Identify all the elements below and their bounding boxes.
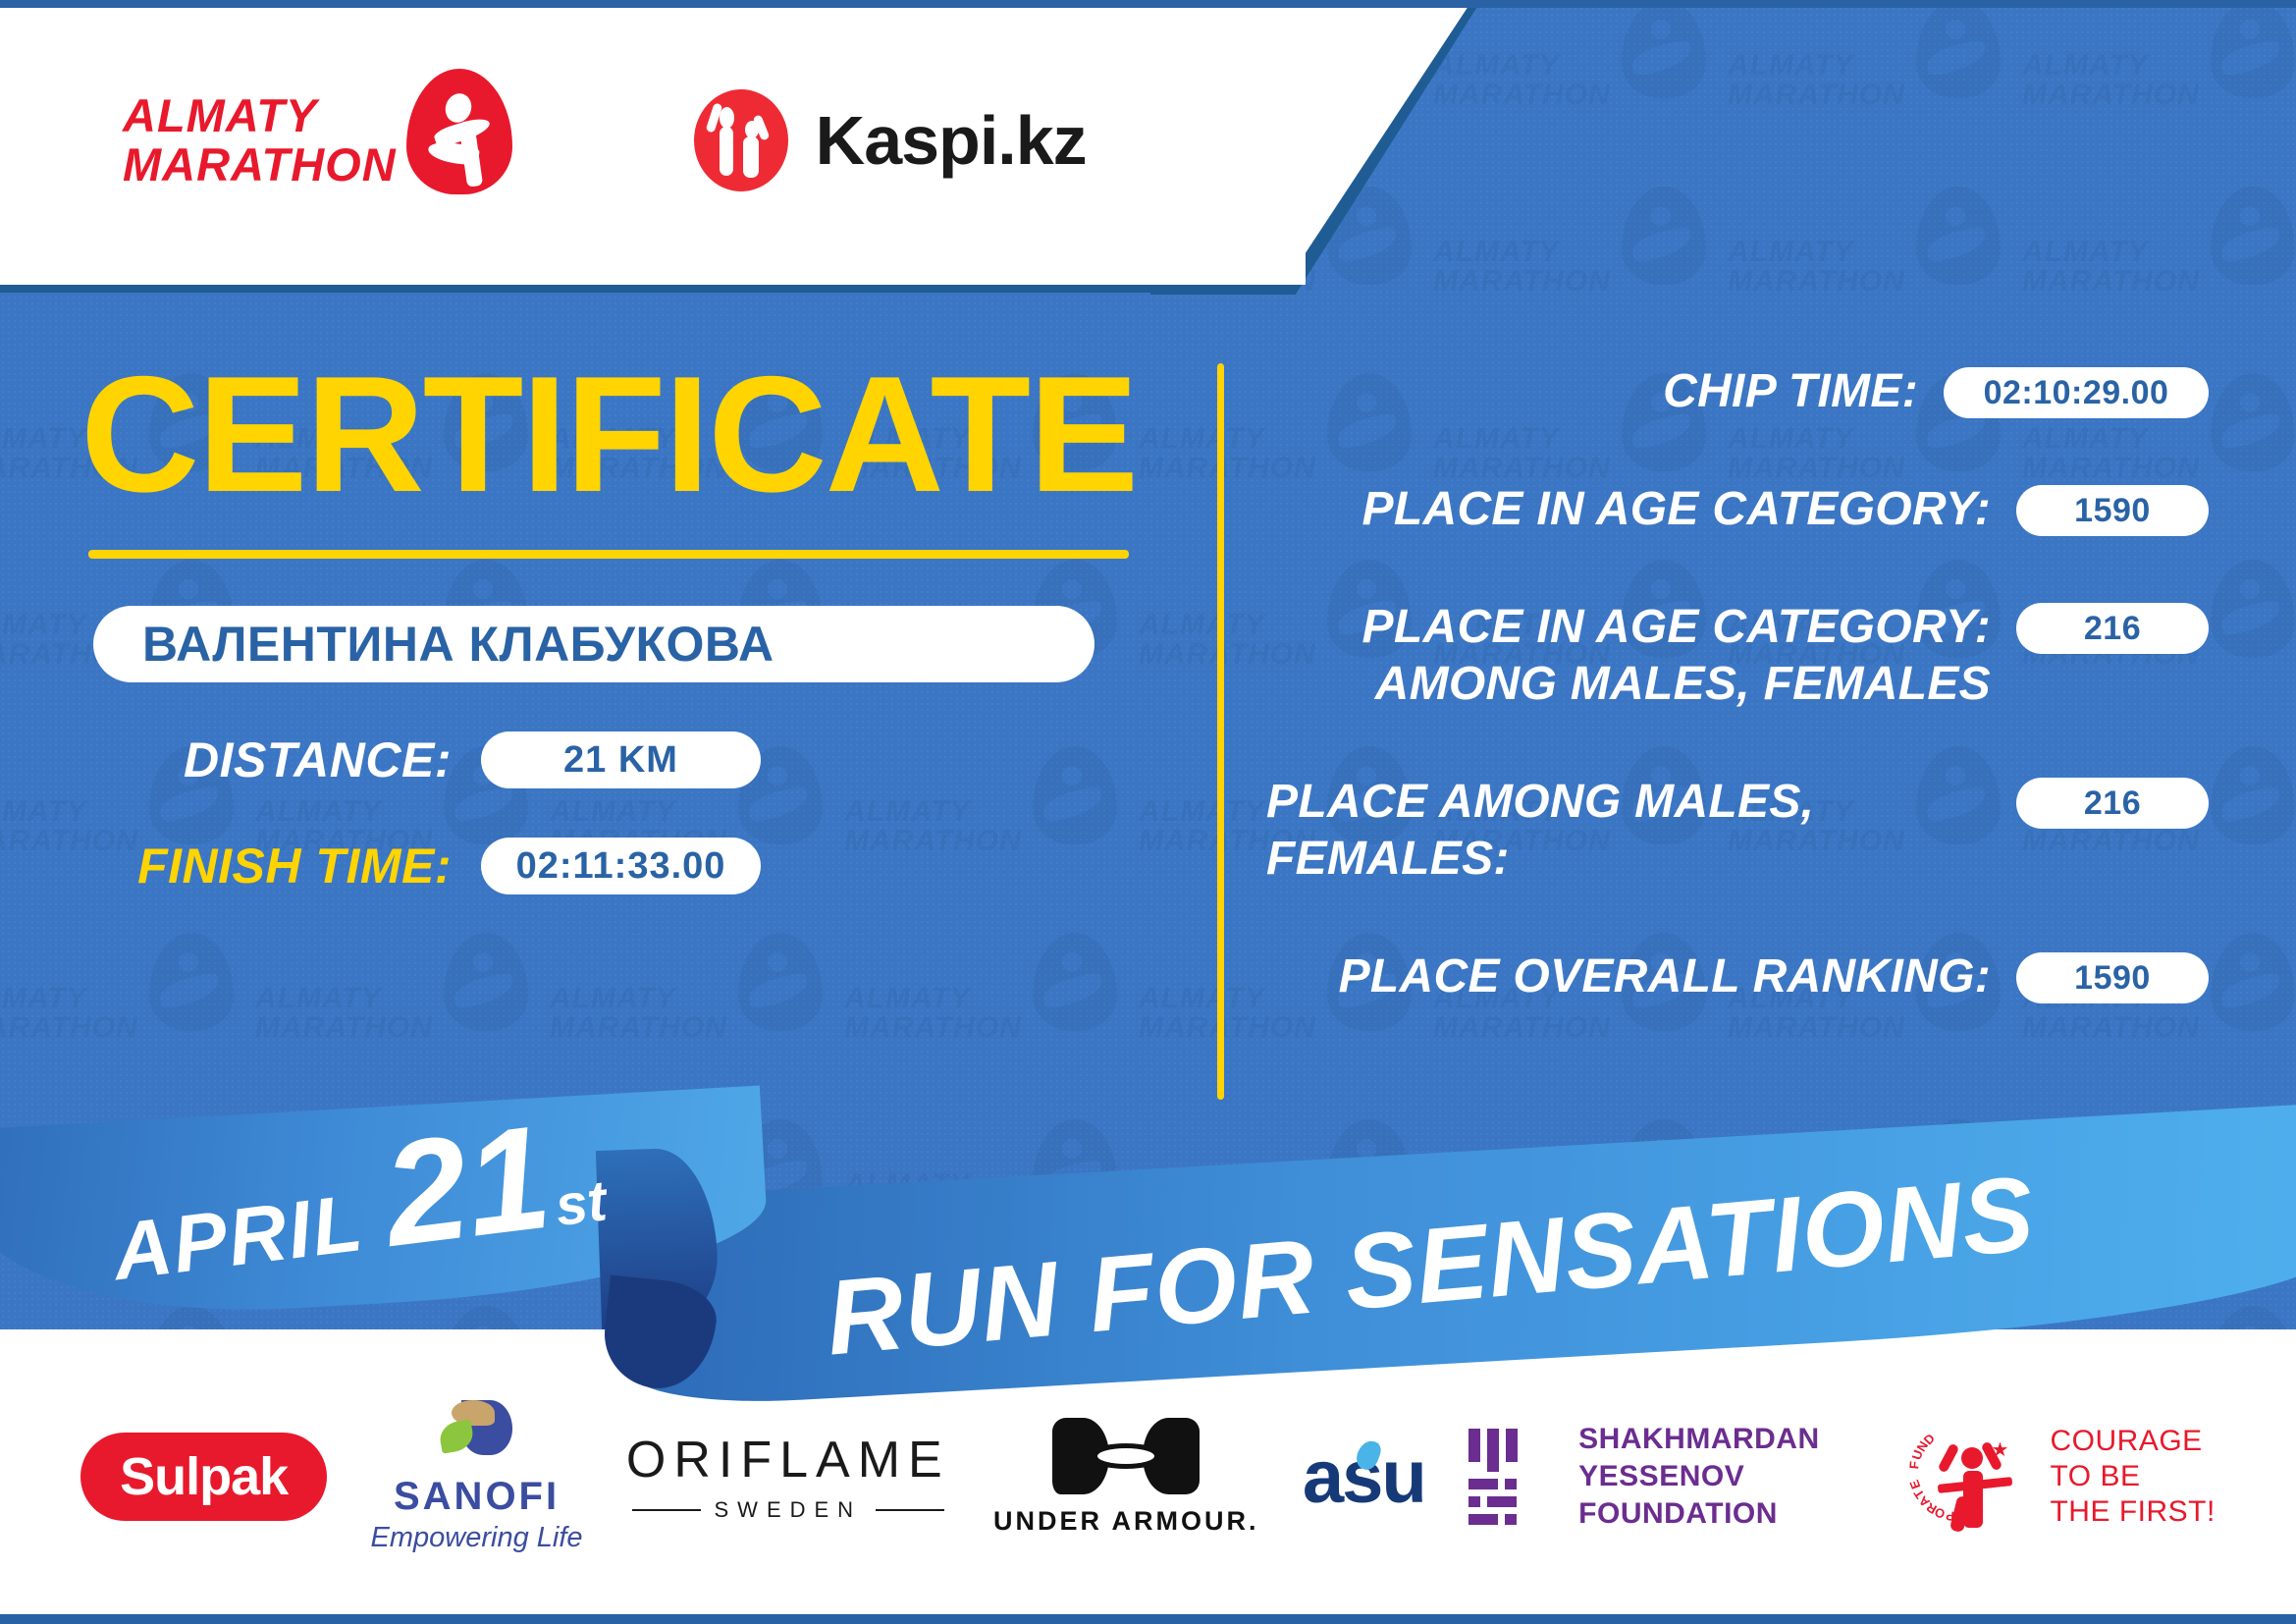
top-border-strip bbox=[0, 0, 2296, 8]
kaspi-people-icon bbox=[694, 89, 788, 191]
yessenov-icon bbox=[1468, 1429, 1553, 1525]
result-row-chip-time: CHIP TIME: 02:10:29.00 bbox=[1266, 363, 2209, 420]
event-day-suffix: st bbox=[552, 1167, 610, 1239]
finish-time-value: 02:11:33.00 bbox=[481, 838, 761, 894]
place-gender-line2: FEMALES: bbox=[1266, 831, 1991, 888]
yessenov-line1: SHAKHMARDAN YESSENOV bbox=[1578, 1421, 1863, 1495]
place-age-category-gender-line2: AMONG MALES, FEMALES bbox=[1266, 656, 1991, 713]
oriflame-rule-right bbox=[876, 1509, 944, 1511]
event-ribbon: APRIL 21 st RUN FOR SENSATIONS bbox=[0, 1090, 2296, 1414]
courage-runner-icon: ★ bbox=[1944, 1439, 2008, 1532]
overall-ranking-label: PLACE OVERALL RANKING: bbox=[1266, 948, 2016, 1005]
yessenov-wordmark: SHAKHMARDAN YESSENOV FOUNDATION bbox=[1578, 1421, 1863, 1533]
column-divider bbox=[1217, 363, 1224, 1100]
almaty-marathon-line2: MARATHON bbox=[123, 140, 397, 189]
certificate-page: ALMATYMARATHONALMATYMARATHONALMATYMARATH… bbox=[0, 0, 2296, 1624]
place-age-category-gender-line1: PLACE IN AGE CATEGORY: bbox=[1266, 599, 1991, 656]
under-armour-wordmark: UNDER ARMOUR. bbox=[993, 1506, 1259, 1537]
results-column: CHIP TIME: 02:10:29.00 PLACE IN AGE CATE… bbox=[1266, 363, 2209, 1066]
sponsor-sulpak: Sulpak bbox=[80, 1433, 327, 1521]
place-age-category-gender-value: 216 bbox=[2016, 603, 2209, 654]
courage-line3: THE FIRST! bbox=[2050, 1494, 2215, 1530]
sanofi-wordmark: SANOFI bbox=[394, 1475, 560, 1519]
event-day: 21 bbox=[379, 1122, 555, 1250]
distance-label: DISTANCE: bbox=[0, 731, 452, 788]
sponsor-courage-fund: CORPORATE FUND ★ COURAGE TO BE THE FIRST… bbox=[1906, 1418, 2215, 1536]
certificate-left-column: CERTIFICATE ВАЛЕНТИНА КЛАБУКОВА DISTANCE… bbox=[0, 295, 1207, 894]
participant-name-field[interactable]: ВАЛЕНТИНА КЛАБУКОВА bbox=[93, 606, 1095, 682]
finish-time-row: FINISH TIME: 02:11:33.00 bbox=[0, 838, 1207, 894]
sponsor-sanofi: SANOFI Empowering Life bbox=[371, 1400, 583, 1554]
oriflame-rule-left bbox=[632, 1509, 701, 1511]
finish-time-label: FINISH TIME: bbox=[0, 838, 452, 894]
kaspi-wordmark: Kaspi.kz bbox=[816, 101, 1087, 180]
almaty-marathon-logo: ALMATY MARATHON bbox=[123, 86, 512, 194]
overall-ranking-value: 1590 bbox=[2016, 952, 2209, 1003]
result-row-place-gender: PLACE AMONG MALES, FEMALES: 216 bbox=[1266, 774, 2209, 888]
place-gender-value: 216 bbox=[2016, 778, 2209, 829]
sponsor-asu: asu bbox=[1303, 1435, 1425, 1520]
oriflame-tagline: SWEDEN bbox=[715, 1497, 863, 1523]
title-underline bbox=[88, 550, 1129, 559]
runner-drop-icon bbox=[406, 69, 512, 194]
asu-wordmark: asu bbox=[1303, 1435, 1425, 1520]
sponsor-yessenov-foundation: SHAKHMARDAN YESSENOV FOUNDATION bbox=[1468, 1421, 1863, 1533]
courage-line2: TO BE bbox=[2050, 1459, 2215, 1494]
result-row-place-age-category: PLACE IN AGE CATEGORY: 1590 bbox=[1266, 481, 2209, 538]
courage-wordmark: COURAGE TO BE THE FIRST! bbox=[2050, 1424, 2215, 1530]
courage-icon: CORPORATE FUND ★ bbox=[1906, 1418, 2034, 1536]
header-logo-row: ALMATY MARATHON Kaspi.kz bbox=[0, 0, 1178, 280]
bottom-border-strip bbox=[0, 1614, 2296, 1624]
distance-row: DISTANCE: 21 KM bbox=[0, 731, 1207, 788]
participant-name: ВАЛЕНТИНА КЛАБУКОВА bbox=[142, 616, 774, 673]
chip-time-value: 02:10:29.00 bbox=[1944, 367, 2209, 418]
place-age-category-label: PLACE IN AGE CATEGORY: bbox=[1266, 481, 2016, 538]
kaspi-logo: Kaspi.kz bbox=[694, 89, 1087, 191]
place-gender-line1: PLACE AMONG MALES, bbox=[1266, 774, 1991, 831]
place-age-category-value: 1590 bbox=[2016, 485, 2209, 536]
place-age-category-gender-label: PLACE IN AGE CATEGORY: AMONG MALES, FEMA… bbox=[1266, 599, 2016, 713]
chip-time-label: CHIP TIME: bbox=[1266, 363, 1944, 420]
almaty-marathon-wordmark: ALMATY MARATHON bbox=[123, 91, 397, 189]
distance-value: 21 KM bbox=[481, 731, 761, 788]
courage-arc-letter: F bbox=[1907, 1460, 1923, 1470]
sulpak-wordmark: Sulpak bbox=[120, 1446, 288, 1507]
almaty-marathon-line1: ALMATY bbox=[123, 91, 397, 140]
certificate-title: CERTIFICATE bbox=[80, 355, 1207, 513]
courage-line1: COURAGE bbox=[2050, 1424, 2215, 1459]
oriflame-wordmark: ORIFLAME bbox=[626, 1431, 950, 1489]
under-armour-icon bbox=[1052, 1418, 1200, 1494]
place-gender-label: PLACE AMONG MALES, FEMALES: bbox=[1266, 774, 2016, 888]
yessenov-line2: FOUNDATION bbox=[1578, 1495, 1863, 1533]
sponsor-under-armour: UNDER ARMOUR. bbox=[993, 1418, 1259, 1537]
sanofi-tagline: Empowering Life bbox=[371, 1522, 583, 1554]
result-row-place-age-category-gender: PLACE IN AGE CATEGORY: AMONG MALES, FEMA… bbox=[1266, 599, 2209, 713]
result-row-overall-ranking: PLACE OVERALL RANKING: 1590 bbox=[1266, 948, 2209, 1005]
sponsor-oriflame: ORIFLAME SWEDEN bbox=[626, 1431, 950, 1523]
